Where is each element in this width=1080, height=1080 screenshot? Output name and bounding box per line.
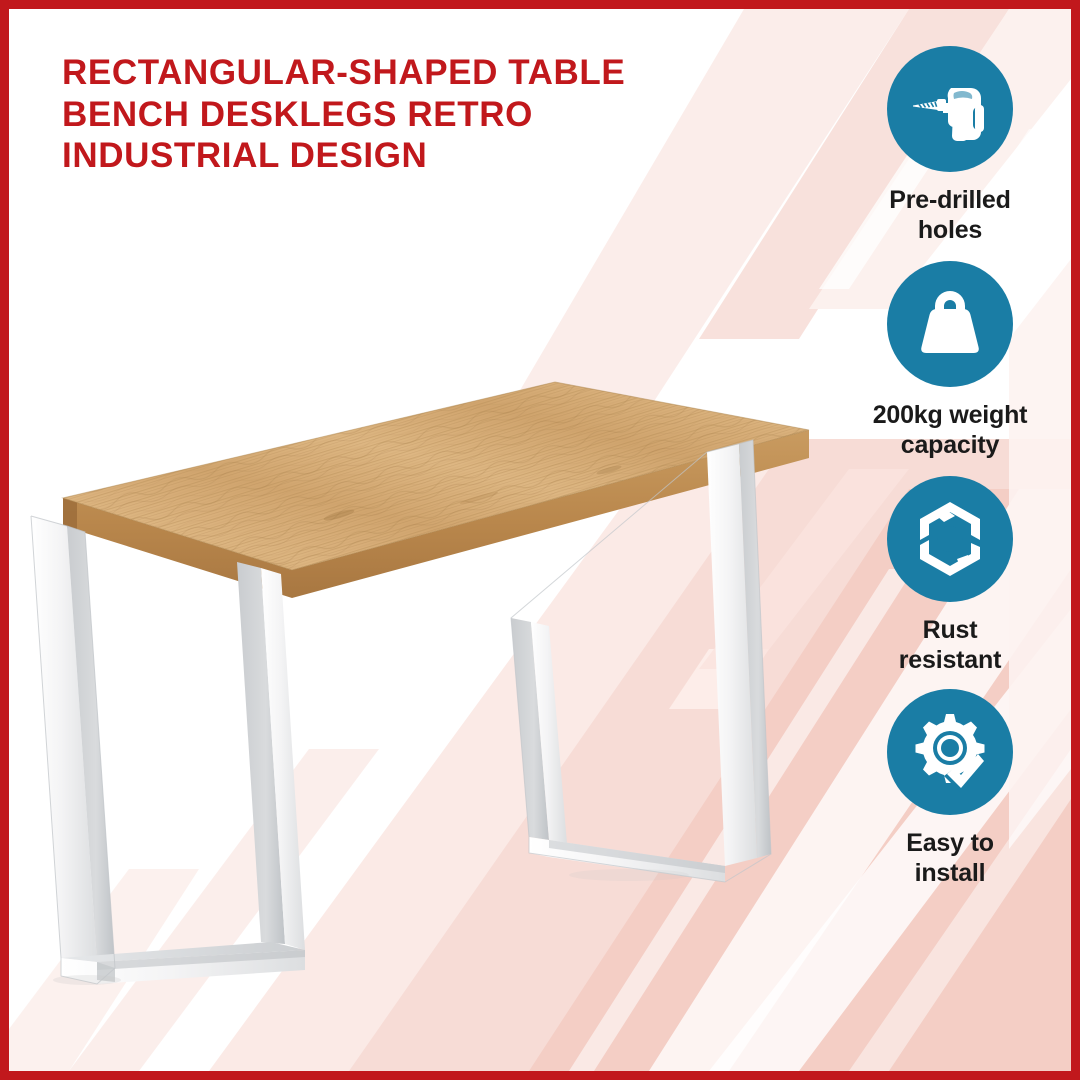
- feature-item-pre-drilled-holes: Pre-drilled holes: [834, 46, 1066, 245]
- feature-icon-circle: [887, 689, 1013, 815]
- title-line-1: RECTANGULAR-SHAPED TABLE: [62, 52, 722, 94]
- weight-icon: [909, 283, 991, 365]
- feature-label: 200kg weight capacity: [873, 400, 1028, 460]
- feature-icon-circle: [887, 261, 1013, 387]
- drill-icon: [907, 66, 993, 152]
- feature-label-line-1: Rust: [899, 615, 1001, 645]
- feature-label-line-1: Easy to: [906, 828, 994, 858]
- feature-label-line-2: holes: [889, 215, 1010, 245]
- title-line-3: INDUSTRIAL DESIGN: [62, 135, 722, 177]
- feature-item-weight-capacity: 200kg weight capacity: [834, 261, 1066, 460]
- feature-label-line-2: capacity: [873, 430, 1028, 460]
- feature-label-line-2: install: [906, 858, 994, 888]
- table-illustration-svg: [9, 330, 859, 1010]
- product-image: [9, 330, 859, 1010]
- feature-label: Rust resistant: [899, 615, 1001, 675]
- gear-check-icon: [908, 710, 992, 794]
- feature-label: Pre-drilled holes: [889, 185, 1010, 245]
- feature-icon-circle: [887, 46, 1013, 172]
- feature-item-rust-resistant: Rust resistant: [834, 476, 1066, 675]
- feature-label: Easy to install: [906, 828, 994, 888]
- table-leg-left: [31, 516, 305, 984]
- feature-label-line-1: 200kg weight: [873, 400, 1028, 430]
- feature-label-line-2: resistant: [899, 645, 1001, 675]
- title-line-2: BENCH DESKLEGS RETRO: [62, 94, 722, 136]
- page-title: RECTANGULAR-SHAPED TABLE BENCH DESKLEGS …: [62, 52, 722, 177]
- feature-item-easy-to-install: Easy to install: [834, 689, 1066, 888]
- hex-nut-icon: [908, 497, 992, 581]
- feature-list: Pre-drilled holes 200kg weight capacity: [834, 46, 1066, 1046]
- feature-label-line-1: Pre-drilled: [889, 185, 1010, 215]
- feature-icon-circle: [887, 476, 1013, 602]
- product-poster: RECTANGULAR-SHAPED TABLE BENCH DESKLEGS …: [0, 0, 1080, 1080]
